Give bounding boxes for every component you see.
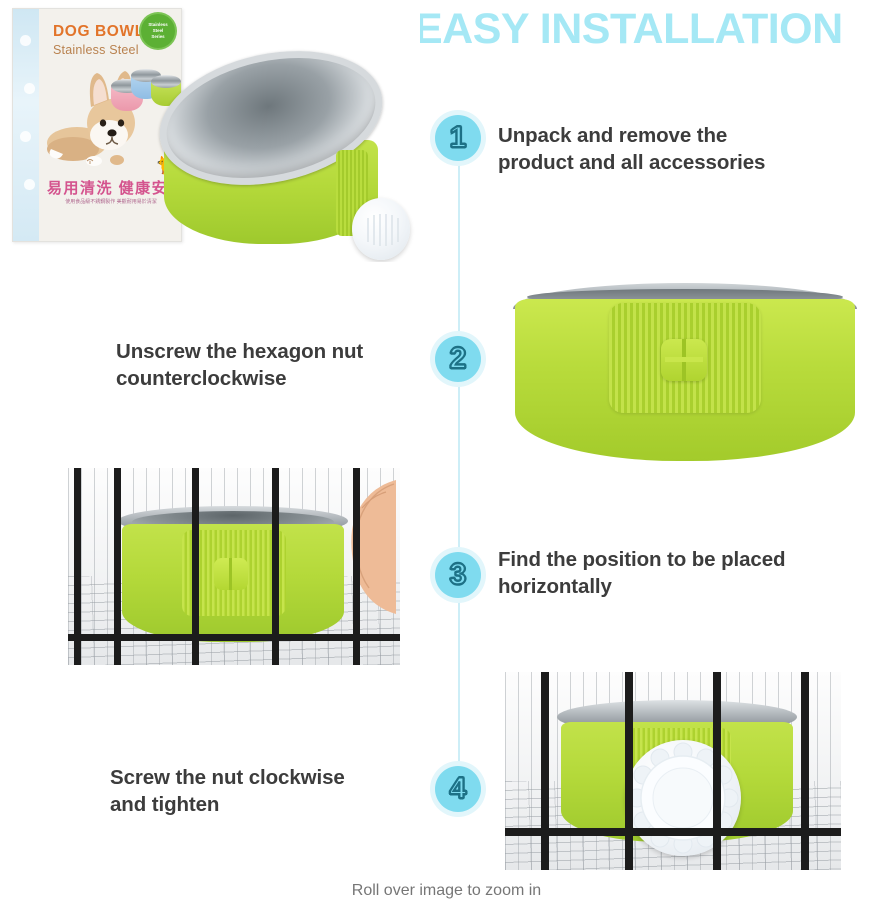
cage-bar-horizontal (505, 828, 841, 836)
page-title: EASY INSTALLATION (414, 6, 893, 53)
timeline-connector-2-3 (458, 382, 460, 550)
green-hex-nut-slot-step3 (229, 558, 232, 590)
cage-bar-vertical (625, 672, 633, 870)
installation-infographic: EASY INSTALLATION DOG BOWL Stainless Ste… (0, 0, 893, 914)
cage-bar-horizontal (68, 634, 400, 641)
package-title: DOG BOWL (53, 23, 145, 41)
cage-bar-vertical (801, 672, 809, 870)
package-spine (13, 9, 39, 241)
step-number-3: 3 (450, 560, 467, 590)
step-marker-4: 4 (435, 766, 481, 812)
bowl-front-view (513, 283, 857, 465)
zoom-hint-caption: Roll over image to zoom in (0, 882, 893, 900)
step-text-3-line2: horizontally (498, 573, 878, 600)
step-text-1: Unpack and remove the product and all ac… (498, 122, 858, 176)
flower-nut-ridges-icon (350, 196, 414, 262)
step-text-4-line1: Screw the nut clockwise (110, 764, 410, 791)
step-text-4: Screw the nut clockwise and tighten (110, 764, 410, 818)
step-marker-1: 1 (435, 115, 481, 161)
cage-bar-vertical (713, 672, 721, 870)
paw-print-icon (24, 179, 35, 190)
package-chinese-subtext: 使用食品級不銹鋼製作 美觀耐用易於清潔 (65, 199, 157, 207)
step-marker-3: 3 (435, 552, 481, 598)
step-text-3: Find the position to be placed horizonta… (498, 546, 878, 600)
paw-print-icon (24, 83, 35, 94)
product-bowl-tilted (150, 48, 420, 262)
step-text-2-line1: Unscrew the hexagon nut (116, 338, 416, 365)
step-number-2: 2 (450, 344, 467, 374)
green-hex-nut-crossbar (665, 357, 703, 362)
step-text-1-line1: Unpack and remove the (498, 122, 858, 149)
step-text-2: Unscrew the hexagon nut counterclockwise (116, 338, 416, 392)
paw-print-icon (20, 131, 31, 142)
step-text-2-line2: counterclockwise (116, 365, 416, 392)
photo-step-2-unscrew-nut (505, 283, 865, 467)
step-number-4: 4 (450, 774, 467, 804)
package-subtitle: Stainless Steel (53, 43, 139, 57)
step-text-1-line2: product and all accessories (498, 149, 858, 176)
timeline-connector-1-2 (458, 158, 460, 340)
timeline-connector-3-4 (458, 598, 460, 766)
photo-step-3-position-in-cage (68, 468, 400, 665)
cage-bar-vertical (541, 672, 549, 870)
step-text-4-line2: and tighten (110, 791, 410, 818)
step-text-3-line1: Find the position to be placed (498, 546, 878, 573)
step-marker-2: 2 (435, 336, 481, 382)
photo-step-1-unboxing: DOG BOWL Stainless Steel Stainless Steel… (0, 0, 420, 262)
flower-nut-petals-icon (623, 738, 743, 858)
stainless-steel-series-badge: Stainless Steel Series (141, 14, 175, 48)
badge-line-3: Series (151, 34, 164, 40)
photo-step-4-tighten-nut (505, 672, 841, 870)
paw-print-icon (20, 35, 31, 46)
step-number-1: 1 (450, 123, 467, 153)
